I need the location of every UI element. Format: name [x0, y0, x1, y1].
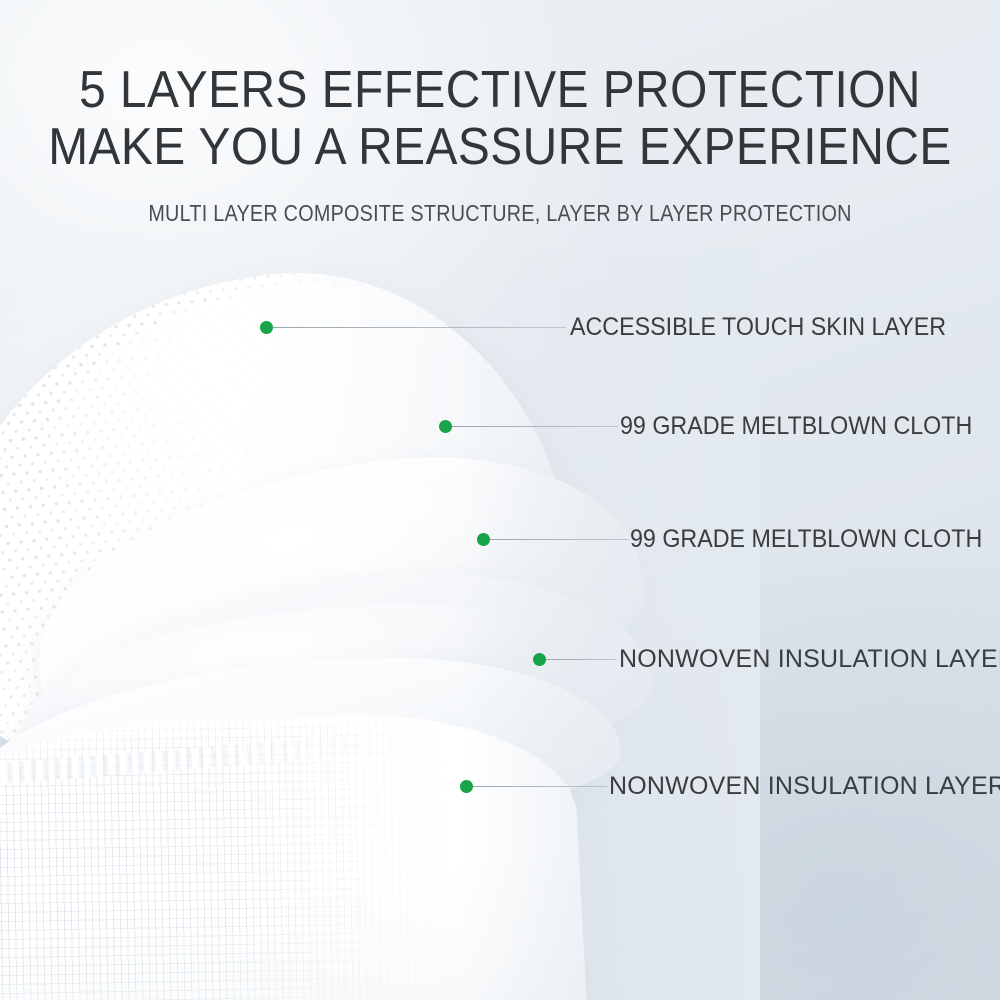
leader-line — [270, 327, 566, 328]
callout-label: 99 GRADE MELTBLOWN CLOTH — [630, 523, 982, 555]
callout-label: ACCESSIBLE TOUCH SKIN LAYER — [570, 311, 946, 343]
callout-dot-icon — [439, 420, 452, 433]
leader-line — [449, 426, 618, 427]
callout-dot-icon — [533, 653, 546, 666]
callout-dot-icon — [477, 533, 490, 546]
heading-block: 5 LAYERS EFFECTIVE PROTECTION MAKE YOU A… — [0, 62, 1000, 227]
callout-dot-icon — [460, 780, 473, 793]
callout-label: NONWOVEN INSULATION LAYER — [609, 770, 1000, 802]
callout-label: NONWOVEN INSULATION LAYER — [619, 643, 1000, 675]
callout-dot-icon — [260, 321, 273, 334]
page-title-line-2: MAKE YOU A REASSURE EXPERIENCE — [40, 119, 960, 176]
leader-line — [543, 659, 617, 660]
leader-line — [470, 786, 607, 787]
product-image-fade — [460, 250, 760, 1000]
leader-line — [487, 539, 629, 540]
page-subtitle: MULTI LAYER COMPOSITE STRUCTURE, LAYER B… — [70, 200, 930, 227]
page-title-line-1: 5 LAYERS EFFECTIVE PROTECTION — [40, 62, 960, 119]
callout-label: 99 GRADE MELTBLOWN CLOTH — [620, 410, 972, 442]
product-layers-image — [0, 250, 760, 1000]
poster-root: 5 LAYERS EFFECTIVE PROTECTION MAKE YOU A… — [0, 0, 1000, 1000]
